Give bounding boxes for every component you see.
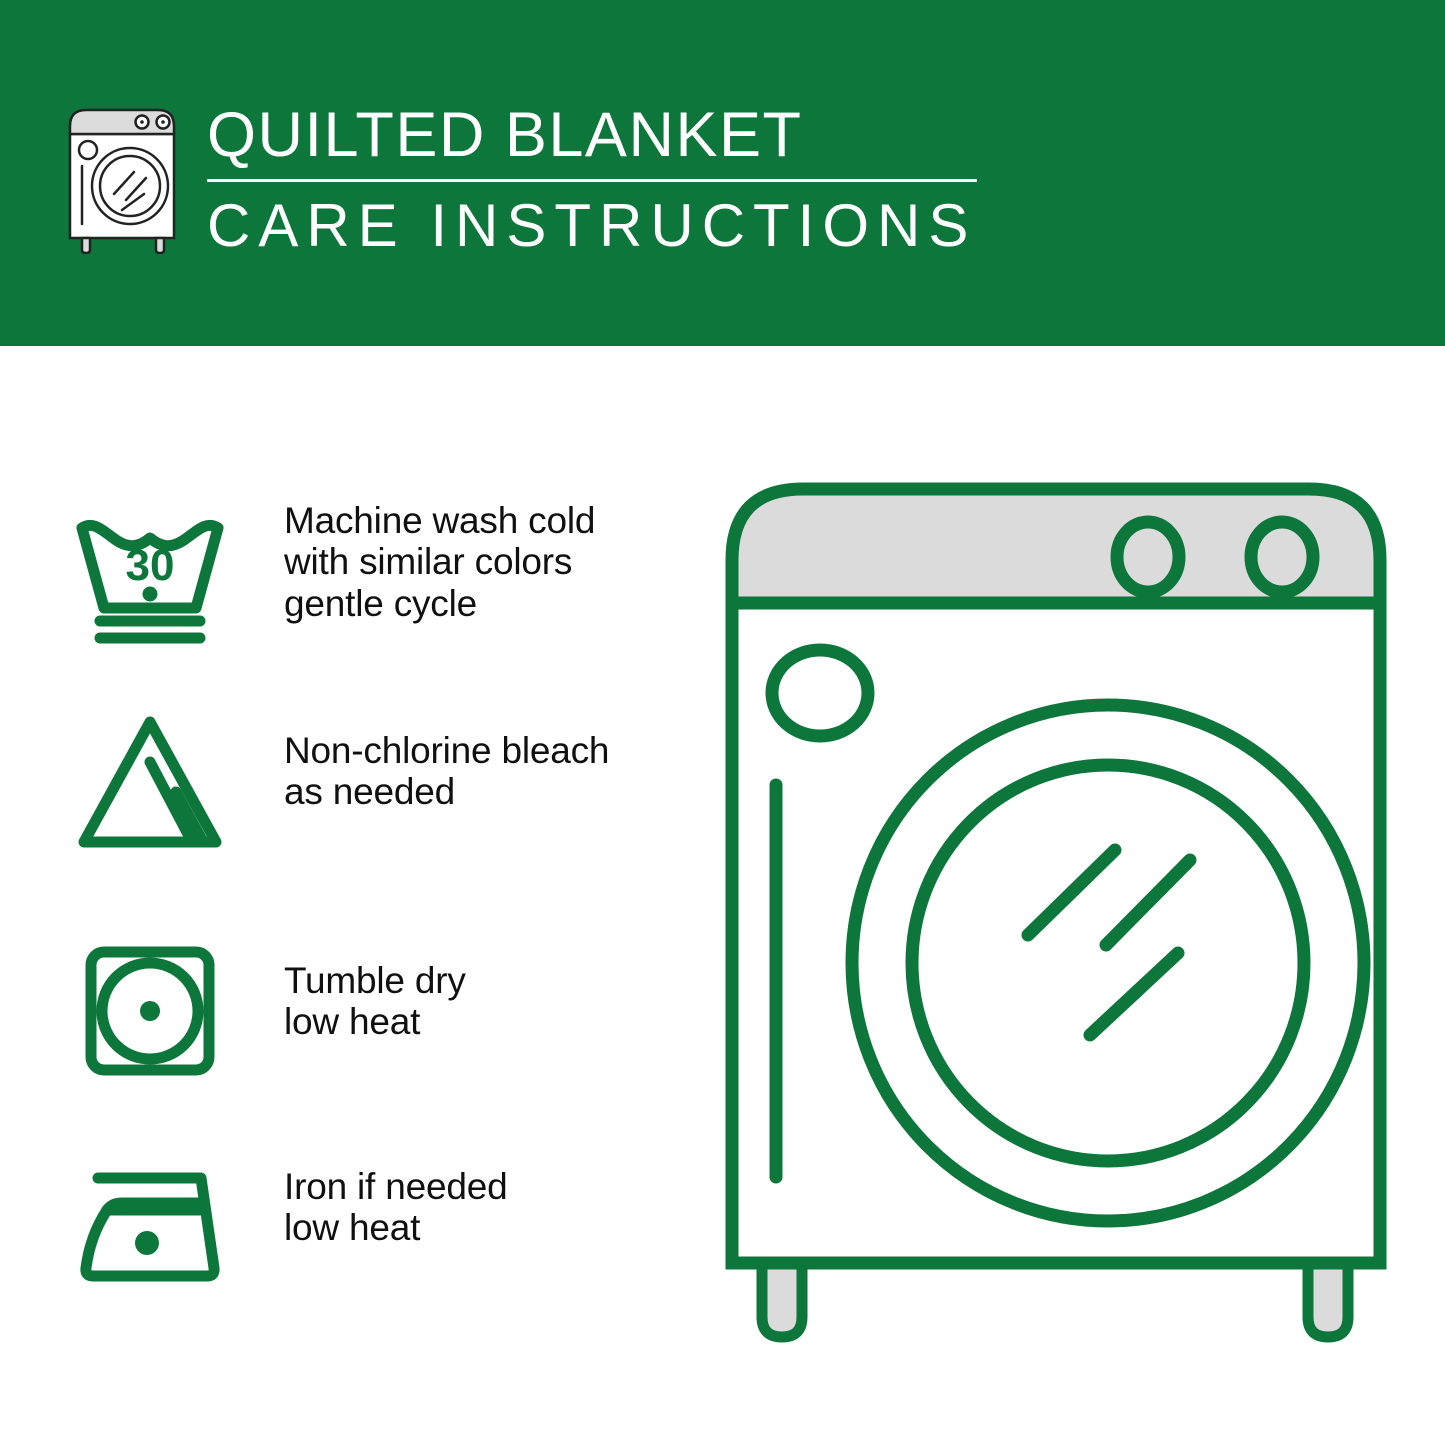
care-instruction-item: Non-chlorine bleach as needed: [60, 706, 680, 856]
care-instruction-line: as needed: [284, 771, 680, 812]
care-instruction-line: Non-chlorine bleach: [284, 730, 680, 771]
care-instruction-line: low heat: [284, 1207, 680, 1248]
care-instruction-line: low heat: [284, 1001, 680, 1042]
care-instruction-line: with similar colors: [284, 541, 680, 582]
care-instruction-line: Tumble dry: [284, 960, 680, 1001]
care-instruction-text: Iron if needed low heat: [240, 1144, 680, 1249]
care-instruction-line: Iron if needed: [284, 1166, 680, 1207]
care-instruction-item: Iron if needed low heat: [60, 1144, 680, 1294]
page-title: QUILTED BLANKET: [205, 104, 995, 167]
page-subtitle: CARE INSTRUCTIONS: [205, 196, 995, 256]
bleach-triangle-nonchlorine-icon: [60, 706, 240, 856]
care-instruction-item: Tumble dry low heat: [60, 934, 680, 1084]
iron-low-heat-icon: [60, 1144, 240, 1294]
care-instruction-line: gentle cycle: [284, 583, 680, 624]
washing-machine-icon: [64, 104, 184, 254]
care-instruction-line: Machine wash cold: [284, 500, 680, 541]
header-text-block: QUILTED BLANKET CARE INSTRUCTIONS: [205, 104, 995, 254]
care-instruction-text: Machine wash cold with similar colors ge…: [240, 496, 680, 624]
care-instruction-list: 30 Machine wash cold with similar colors…: [0, 346, 700, 1445]
title-divider: [207, 179, 977, 182]
care-instruction-text: Tumble dry low heat: [240, 934, 680, 1043]
wash-tub-30-gentle-icon: 30: [60, 496, 240, 646]
care-instruction-text: Non-chlorine bleach as needed: [240, 706, 680, 813]
care-instructions-infographic: QUILTED BLANKET CARE INSTRUCTIONS 30: [0, 0, 1445, 1445]
wash-temperature-label: 30: [126, 541, 175, 590]
header-banner: QUILTED BLANKET CARE INSTRUCTIONS: [0, 0, 1445, 346]
front-load-washing-machine-illustration: [700, 455, 1420, 1380]
tumble-dry-low-icon: [60, 934, 240, 1084]
care-instruction-item: 30 Machine wash cold with similar colors…: [60, 496, 680, 646]
